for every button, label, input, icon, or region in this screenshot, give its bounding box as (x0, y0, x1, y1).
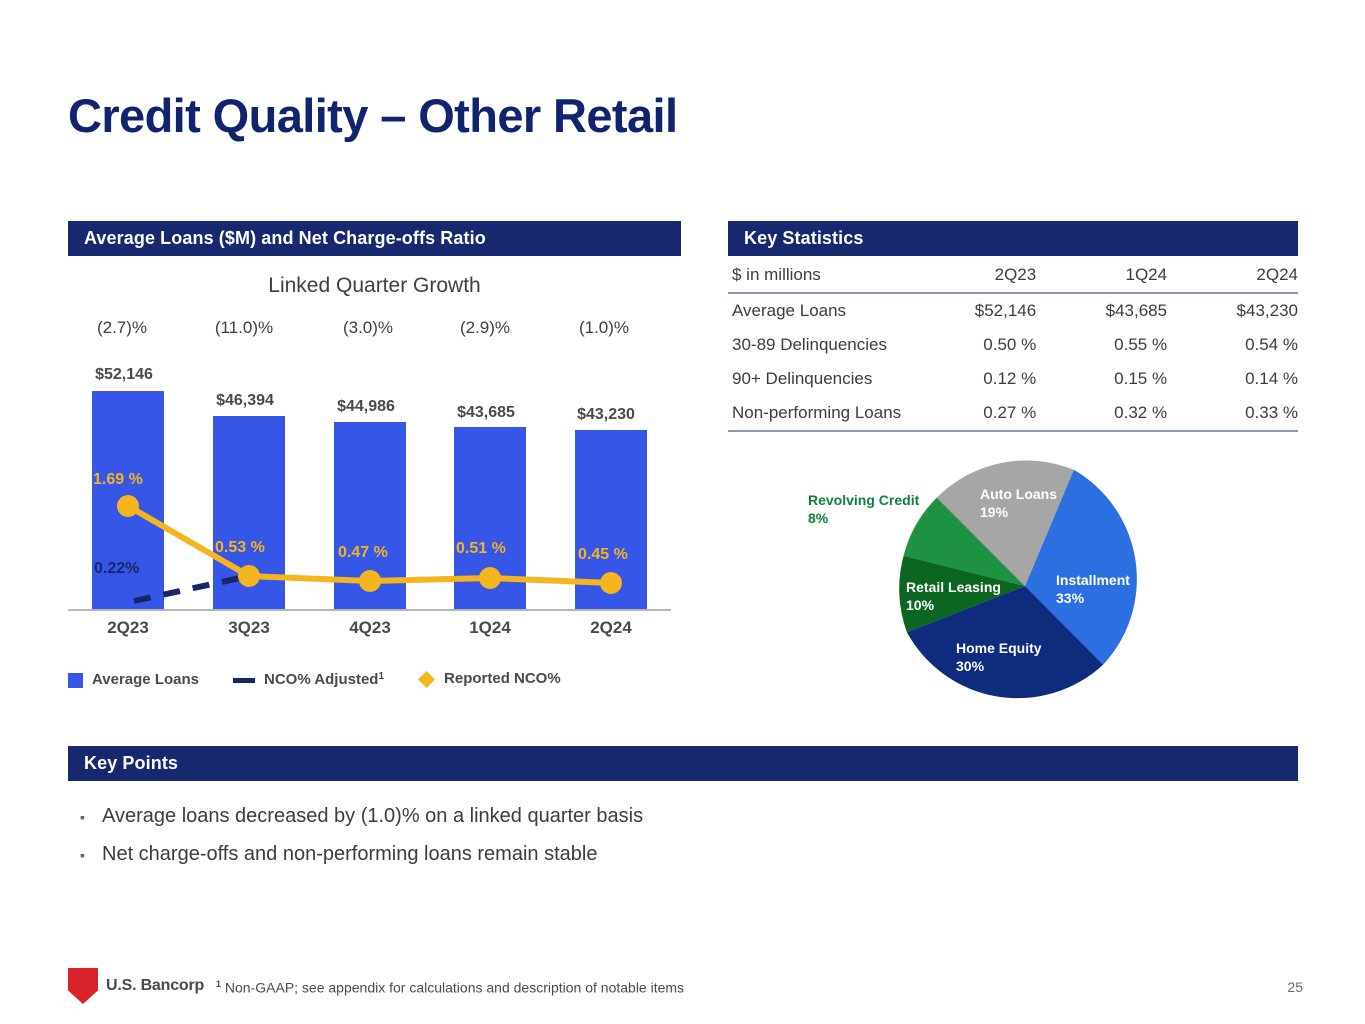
cell-90plus-2q24: 0.14 % (1167, 362, 1298, 396)
page-title: Credit Quality – Other Retail (68, 88, 677, 143)
table-row: 30-89 Delinquencies 0.50 % 0.55 % 0.54 % (728, 328, 1298, 362)
cell-npl-2q24: 0.33 % (1167, 396, 1298, 431)
col-header-1q24: 1Q24 (1036, 258, 1167, 293)
pie-label-revolving-credit-name: Revolving Credit (808, 492, 919, 508)
table-header-row: $ in millions 2Q23 1Q24 2Q24 (728, 258, 1298, 293)
cell-npl-2q23: 0.27 % (901, 396, 1036, 431)
pie-label-retail-leasing-value: 10% (906, 597, 934, 613)
loan-mix-pie-chart: Auto Loans 19% Installment 33% Home Equi… (790, 455, 1190, 725)
nco-adjusted-label-0: 0.22% (94, 560, 139, 578)
legend-dash-icon (233, 678, 255, 683)
nco-point-3q23 (238, 565, 260, 587)
legend-item-average-loans: Average Loans (68, 671, 199, 688)
key-points-header-label: Key Points (84, 753, 178, 774)
cell-30-89-2q24: 0.54 % (1167, 328, 1298, 362)
x-label-4: 2Q24 (551, 618, 671, 638)
pie-label-revolving-credit: Revolving Credit 8% (808, 492, 919, 527)
table-row: 90+ Delinquencies 0.12 % 0.15 % 0.14 % (728, 362, 1298, 396)
us-bancorp-logo: U.S. Bancorp (68, 968, 204, 1004)
pie-label-auto-loans-name: Auto Loans (980, 486, 1057, 502)
cell-average-loans-2q23: $52,146 (901, 293, 1036, 328)
legend-square-icon (68, 673, 83, 688)
shield-icon (68, 968, 98, 1004)
key-points-list: ▪ Average loans decreased by (1.0)% on a… (80, 805, 1180, 881)
bullet-icon: ▪ (80, 810, 102, 824)
footnote-text: Non-GAAP; see appendix for calculations … (225, 980, 684, 996)
list-item: ▪ Net charge-offs and non-performing loa… (80, 843, 1180, 866)
cell-npl-1q24: 0.32 % (1036, 396, 1167, 431)
pie-label-retail-leasing-name: Retail Leasing (906, 579, 1001, 595)
footnote-marker: 1 (216, 979, 221, 989)
cell-average-loans-2q24: $43,230 (1167, 293, 1298, 328)
nco-label-2: 0.47 % (338, 544, 388, 562)
row-label-90-plus-delinquencies: 90+ Delinquencies (728, 362, 901, 396)
list-item: ▪ Average loans decreased by (1.0)% on a… (80, 805, 1180, 828)
chart-legend: Average Loans NCO% Adjusted1 Reported NC… (68, 662, 681, 696)
nco-adjusted-dashed-line (134, 576, 249, 601)
table-row: Average Loans $52,146 $43,685 $43,230 (728, 293, 1298, 328)
chart-x-axis (68, 609, 671, 611)
nco-point-4q23 (359, 570, 381, 592)
pie-label-revolving-credit-value: 8% (808, 510, 828, 526)
nco-point-2q23 (117, 495, 139, 517)
pie-label-auto-loans: Auto Loans 19% (980, 486, 1057, 521)
chart-panel-header: Average Loans ($M) and Net Charge-offs R… (68, 221, 681, 256)
nco-point-2q24 (600, 572, 622, 594)
pie-label-home-equity-value: 30% (956, 658, 984, 674)
x-label-3: 1Q24 (430, 618, 550, 638)
stats-panel-header: Key Statistics (728, 221, 1298, 256)
nco-label-0: 1.69 % (93, 471, 143, 489)
nco-line-overlay (68, 256, 681, 706)
legend-footnote-marker: 1 (378, 671, 384, 682)
pie-label-home-equity: Home Equity 30% (956, 640, 1042, 675)
key-point-text-1: Net charge-offs and non-performing loans… (102, 843, 597, 866)
legend-label-nco-adjusted: NCO% Adjusted (264, 671, 378, 688)
cell-30-89-1q24: 0.55 % (1036, 328, 1167, 362)
cell-90plus-2q23: 0.12 % (901, 362, 1036, 396)
legend-item-nco-adjusted: NCO% Adjusted1 (233, 671, 384, 688)
legend-label-average-loans: Average Loans (92, 671, 199, 688)
average-loans-chart: Linked Quarter Growth (2.7)% (11.0)% (3.… (68, 256, 681, 706)
nco-label-4: 0.45 % (578, 546, 628, 564)
stats-panel-header-label: Key Statistics (744, 228, 863, 249)
pie-label-installment-name: Installment (1056, 572, 1130, 588)
key-statistics-table: $ in millions 2Q23 1Q24 2Q24 Average Loa… (728, 258, 1298, 432)
legend-diamond-icon (418, 671, 435, 688)
nco-point-1q24 (479, 567, 501, 589)
logo-text: U.S. Bancorp (106, 977, 204, 995)
cell-30-89-2q23: 0.50 % (901, 328, 1036, 362)
col-header-2q24: 2Q24 (1167, 258, 1298, 293)
key-points-panel-header: Key Points (68, 746, 1298, 781)
legend-item-reported-nco: Reported NCO% (418, 670, 561, 688)
key-point-text-0: Average loans decreased by (1.0)% on a l… (102, 805, 643, 828)
table-row: Non-performing Loans 0.27 % 0.32 % 0.33 … (728, 396, 1298, 431)
col-header-metric: $ in millions (728, 258, 901, 293)
row-label-30-89-delinquencies: 30-89 Delinquencies (728, 328, 901, 362)
chart-panel-header-label: Average Loans ($M) and Net Charge-offs R… (84, 228, 486, 249)
legend-label-reported-nco: Reported NCO% (444, 670, 561, 687)
cell-90plus-1q24: 0.15 % (1036, 362, 1167, 396)
x-label-1: 3Q23 (189, 618, 309, 638)
bullet-icon: ▪ (80, 848, 102, 862)
page-number: 25 (1287, 979, 1303, 995)
pie-label-auto-loans-value: 19% (980, 504, 1008, 520)
x-label-0: 2Q23 (68, 618, 188, 638)
x-label-2: 4Q23 (310, 618, 430, 638)
row-label-average-loans: Average Loans (728, 293, 901, 328)
row-label-non-performing-loans: Non-performing Loans (728, 396, 901, 431)
pie-label-installment: Installment 33% (1056, 572, 1130, 607)
pie-label-installment-value: 33% (1056, 590, 1084, 606)
pie-label-retail-leasing: Retail Leasing 10% (906, 579, 1001, 614)
nco-label-3: 0.51 % (456, 540, 506, 558)
pie-label-home-equity-name: Home Equity (956, 640, 1042, 656)
nco-label-1: 0.53 % (215, 539, 265, 557)
cell-average-loans-1q24: $43,685 (1036, 293, 1167, 328)
col-header-2q23: 2Q23 (901, 258, 1036, 293)
footnote: 1 Non-GAAP; see appendix for calculation… (216, 979, 684, 996)
